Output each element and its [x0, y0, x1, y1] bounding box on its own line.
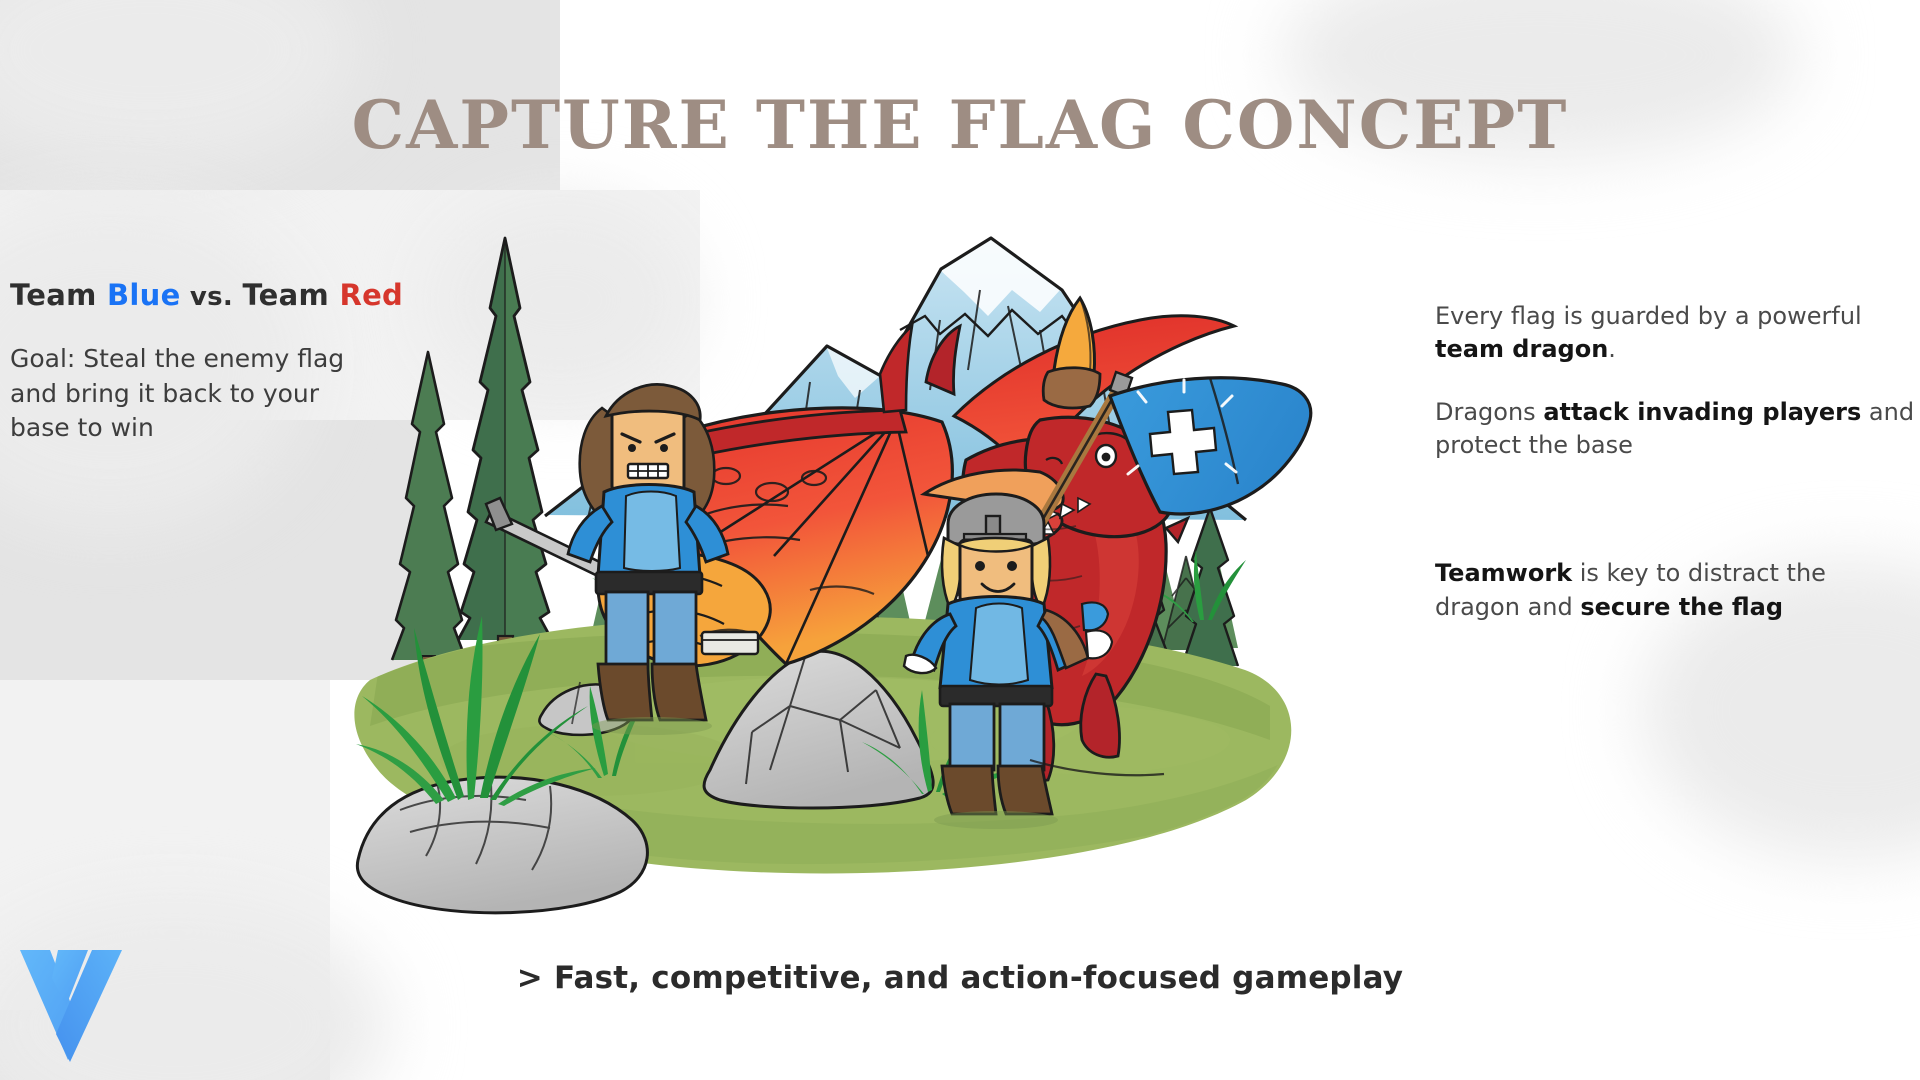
p3-emphasis-lead: Teamwork	[1435, 559, 1572, 587]
p3-emphasis-tail: secure the flag	[1580, 593, 1783, 621]
dragon-guard-paragraph: Every flag is guarded by a powerful team…	[1435, 300, 1915, 366]
p2-emphasis: attack invading players	[1543, 398, 1861, 426]
p1-part-a: Every flag is guarded by a powerful	[1435, 302, 1862, 330]
teamwork-paragraph: Teamwork is key to distract the dragon a…	[1435, 557, 1915, 623]
versus-label: vs.	[181, 282, 243, 312]
dragon-attack-paragraph: Dragons attack invading players and prot…	[1435, 396, 1915, 462]
teams-prefix: Team	[10, 278, 107, 312]
p1-emphasis: team dragon	[1435, 335, 1608, 363]
v-logo-icon	[18, 940, 124, 1064]
right-text-column: Every flag is guarded by a powerful team…	[1435, 300, 1915, 654]
goal-text: Goal: Steal the enemy flag and bring it …	[10, 342, 385, 446]
big-pine-left	[458, 238, 552, 702]
p2-part-a: Dragons	[1435, 398, 1543, 426]
illustration-capture-the-flag	[340, 120, 1350, 930]
slide-canvas: CAPTURE THE FLAG CONCEPT Team Blue vs. T…	[0, 0, 1920, 1080]
small-wood-debris	[702, 632, 758, 654]
team-blue-label: Blue	[107, 278, 181, 312]
tagline: > Fast, competitive, and action-focused …	[0, 960, 1920, 996]
p1-part-c: .	[1608, 335, 1616, 363]
teams-mid: Team	[242, 278, 339, 312]
